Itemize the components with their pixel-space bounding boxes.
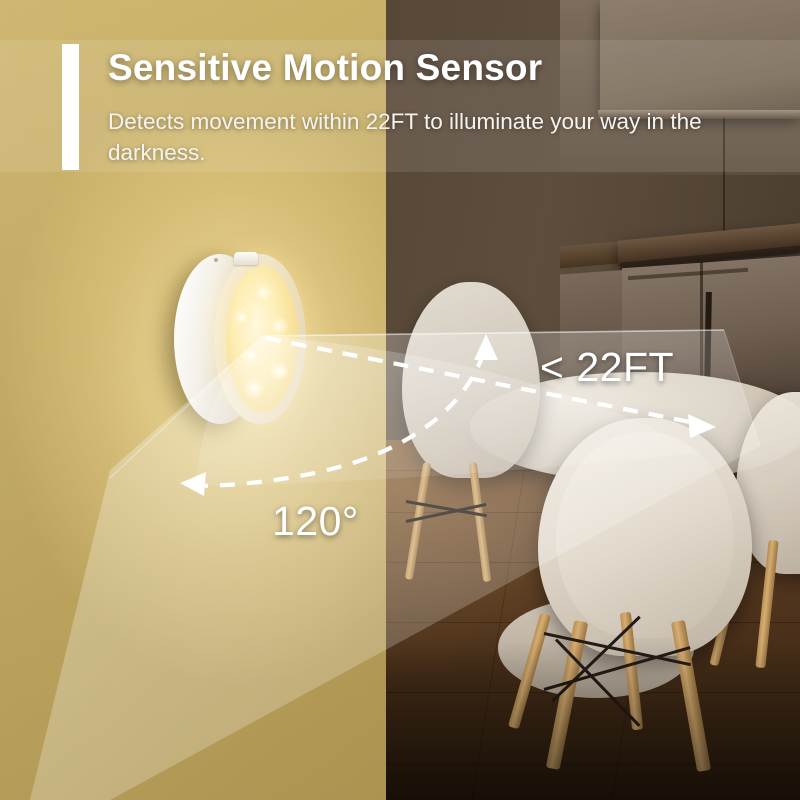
led-dot <box>244 378 264 398</box>
led-dot <box>232 308 252 328</box>
motion-sensor-light[interactable] <box>170 246 330 436</box>
distance-label: < 22FT <box>540 344 674 391</box>
led-dot <box>252 282 274 304</box>
product-feature-image: < 22FT 120° Sensitive Motion Sensor Dete… <box>0 0 800 800</box>
page-title: Sensitive Motion Sensor <box>108 47 768 89</box>
led-dot <box>270 362 288 380</box>
floor-vignette <box>385 640 800 800</box>
led-dot <box>240 344 262 366</box>
page-subtitle: Detects movement within 22FT to illumina… <box>108 106 753 168</box>
cabinet-seam <box>700 262 703 392</box>
header-accent-bar <box>62 44 79 170</box>
light-emitting-face <box>226 266 298 412</box>
led-dot <box>268 316 288 336</box>
sensor-pinhole-icon <box>214 258 218 262</box>
chair-shell-back <box>402 282 540 478</box>
chair-shell-front-inner <box>556 432 734 638</box>
sensor-button[interactable] <box>234 252 258 265</box>
angle-label: 120° <box>272 498 359 545</box>
